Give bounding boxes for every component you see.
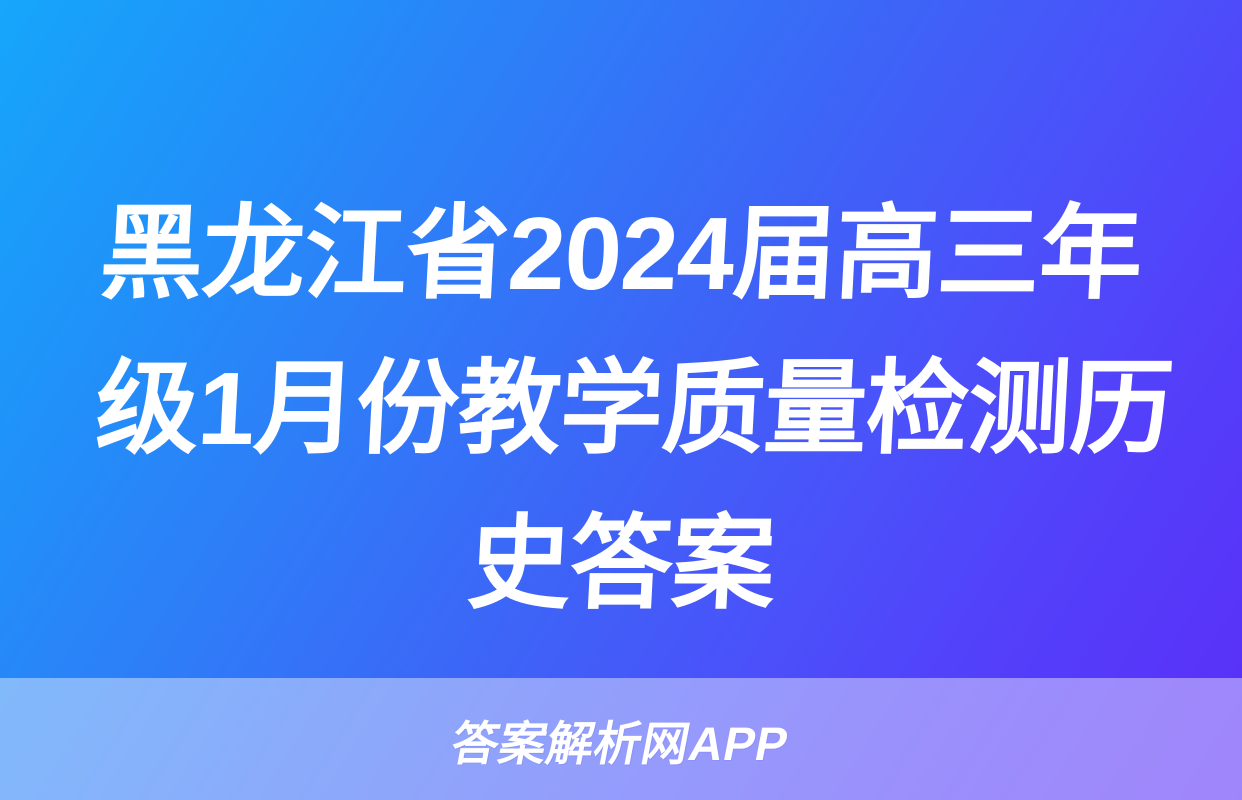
title-line-1: 黑龙江省2024届高三年	[92, 176, 1150, 331]
poster-canvas: 黑龙江省2024届高三年 级1月份教学质量检测历 史答案 答案解析网APP	[0, 0, 1242, 800]
title-line-3: 史答案	[92, 486, 1150, 641]
watermark-label: 答案解析网APP	[446, 705, 795, 774]
title-line-2: 级1月份教学质量检测历	[92, 331, 1150, 486]
page-title: 黑龙江省2024届高三年 级1月份教学质量检测历 史答案	[96, 176, 1146, 641]
footer-watermark-band: 答案解析网APP	[0, 678, 1242, 800]
